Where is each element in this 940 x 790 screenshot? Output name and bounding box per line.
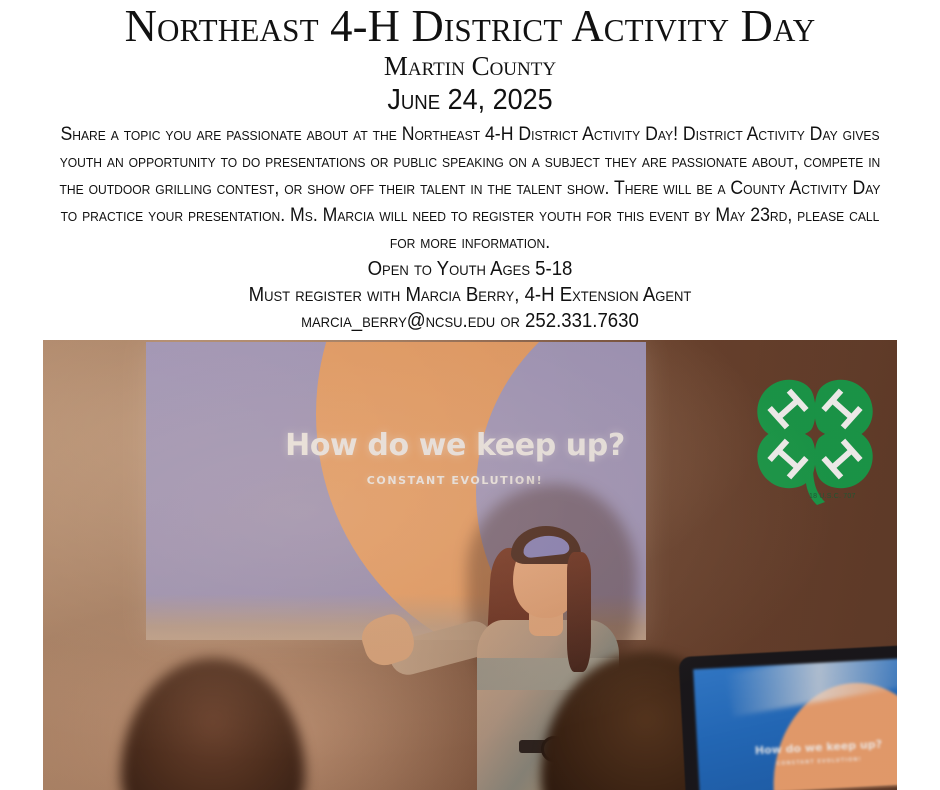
county-subtitle: Martin County — [4, 51, 936, 81]
age-eligibility-line: Open to Youth Ages 5-18 — [37, 256, 904, 282]
clover-legal-text: 18 U.S.C. 707 — [809, 493, 856, 500]
event-date: June 24, 2025 — [37, 83, 904, 117]
monitor-screen: How do we keep up? CONSTANT EVOLUTION! — [693, 657, 897, 790]
registration-line: Must register with Marcia Berry, 4-H Ext… — [37, 282, 904, 308]
slide-headline: How do we keep up? — [146, 428, 646, 463]
page-title: Northeast 4-H District Activity Day — [18, 2, 922, 50]
monitor-display: How do we keep up? CONSTANT EVOLUTION! — [679, 643, 897, 790]
contact-line: marcia_berry@ncsu.edu or 252.331.7630 — [37, 308, 904, 334]
event-description: Share a topic you are passionate about a… — [50, 121, 891, 256]
flyer-text-block: Northeast 4-H District Activity Day Mart… — [0, 2, 940, 334]
four-h-clover-logo: 18 U.S.C. 707 — [747, 362, 883, 512]
event-photo: How do we keep up? CONSTANT EVOLUTION! — [43, 340, 897, 790]
flyer-page: Northeast 4-H District Activity Day Mart… — [0, 2, 940, 790]
presenter-hair-right — [567, 552, 591, 672]
